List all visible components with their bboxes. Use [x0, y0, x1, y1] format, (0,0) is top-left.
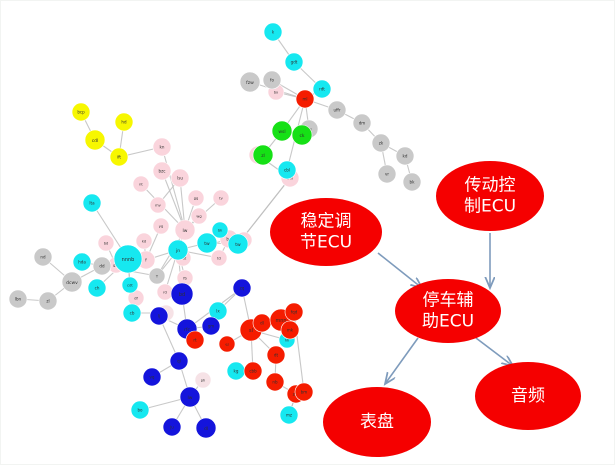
- ecu-label-parking: 停车辅: [423, 291, 474, 311]
- ecu-node-stability[interactable]: 稳定调节ECU: [270, 198, 382, 266]
- arrow-parking-to-dashboard: [385, 338, 418, 384]
- ecu-label-transmission: 传动控: [465, 176, 516, 196]
- arrow-stability-to-parking: [378, 253, 422, 288]
- ecu-label-dashboard: 表盘: [360, 412, 394, 432]
- ecu-label-stability: 节ECU: [300, 233, 352, 253]
- ecu-node-dashboard[interactable]: 表盘: [323, 387, 431, 457]
- ecu-label-transmission: 制ECU: [464, 197, 516, 217]
- ecu-label-stability: 稳定调: [301, 212, 352, 232]
- ecu-label-audio: 音频: [511, 386, 545, 406]
- screenshot-canvas: bcphdcdliftknntbzcmvlsugqtvwglwyqkdbdgmf…: [0, 0, 615, 465]
- arrow-parking-to-audio: [476, 338, 513, 366]
- ecu-label-parking: 助ECU: [422, 312, 474, 332]
- diagram-nodes: 稳定调节ECU传动控制ECU停车辅助ECU表盘音频: [270, 161, 581, 457]
- ecu-architecture-diagram: 稳定调节ECU传动控制ECU停车辅助ECU表盘音频: [0, 0, 615, 465]
- ecu-node-audio[interactable]: 音频: [475, 362, 581, 430]
- ecu-node-parking[interactable]: 停车辅助ECU: [395, 279, 501, 343]
- ecu-node-transmission[interactable]: 传动控制ECU: [436, 161, 544, 231]
